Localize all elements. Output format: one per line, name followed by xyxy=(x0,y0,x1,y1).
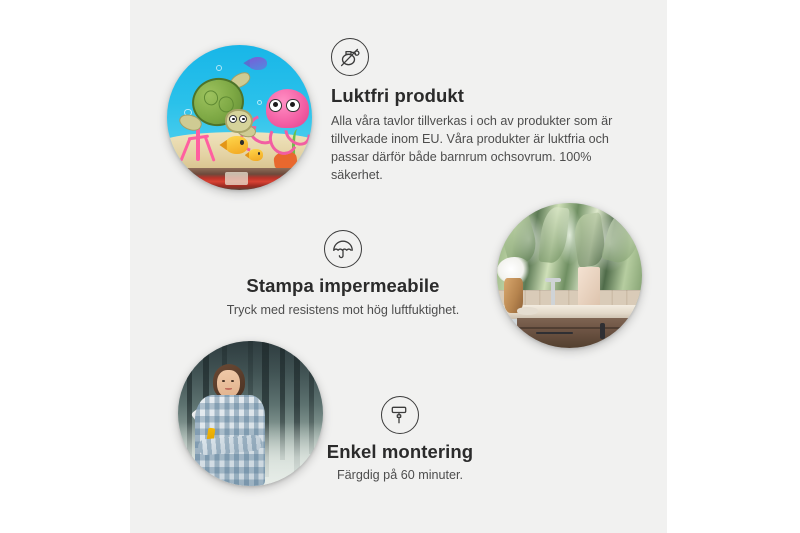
coral-icon xyxy=(177,125,221,166)
decor-box xyxy=(578,267,600,311)
feature-assembly: Enkel montering Färgdig på 60 minuter. xyxy=(285,396,515,485)
underwater-scene xyxy=(167,45,312,190)
print-edge-strip xyxy=(167,168,312,190)
woman-face xyxy=(217,370,240,398)
yellow-fish-icon xyxy=(248,149,263,161)
feature-title: Stampa impermeabile xyxy=(208,275,478,297)
no-odour-perfume-bottle-icon xyxy=(331,38,369,76)
blue-fish-icon xyxy=(248,57,267,70)
soap-dish xyxy=(517,307,537,314)
feature-description: Alla våra tavlor tillverkas i och av pro… xyxy=(331,113,627,185)
wooden-vanity xyxy=(517,318,642,348)
paint-roller-icon xyxy=(381,396,419,434)
feature-title: Enkel montering xyxy=(285,441,515,463)
umbrella-icon xyxy=(324,230,362,268)
feature-waterproof: Stampa impermeabile Tryck med resistens … xyxy=(208,230,478,320)
leaf-shape xyxy=(601,206,642,266)
product-feature-banner: Luktfri produkt Alla våra tavlor tillver… xyxy=(0,0,800,533)
yellow-fish-icon xyxy=(225,136,248,153)
leaf-shape xyxy=(572,212,608,267)
feature-odourless: Luktfri produkt Alla våra tavlor tillver… xyxy=(331,38,627,185)
feature-description: Tryck med resistens mot hög luftfuktighe… xyxy=(208,302,478,320)
feature-description: Färgdig på 60 minuter. xyxy=(285,467,515,485)
bathroom-leaf-wallpaper-disc[interactable] xyxy=(497,203,642,348)
turtle-head xyxy=(225,109,253,134)
leaf-shape xyxy=(538,206,570,264)
bathroom-scene xyxy=(497,203,642,348)
feature-title: Luktfri produkt xyxy=(331,85,627,107)
faucet-icon xyxy=(551,278,555,307)
underwater-cartoon-disc[interactable] xyxy=(167,45,312,190)
